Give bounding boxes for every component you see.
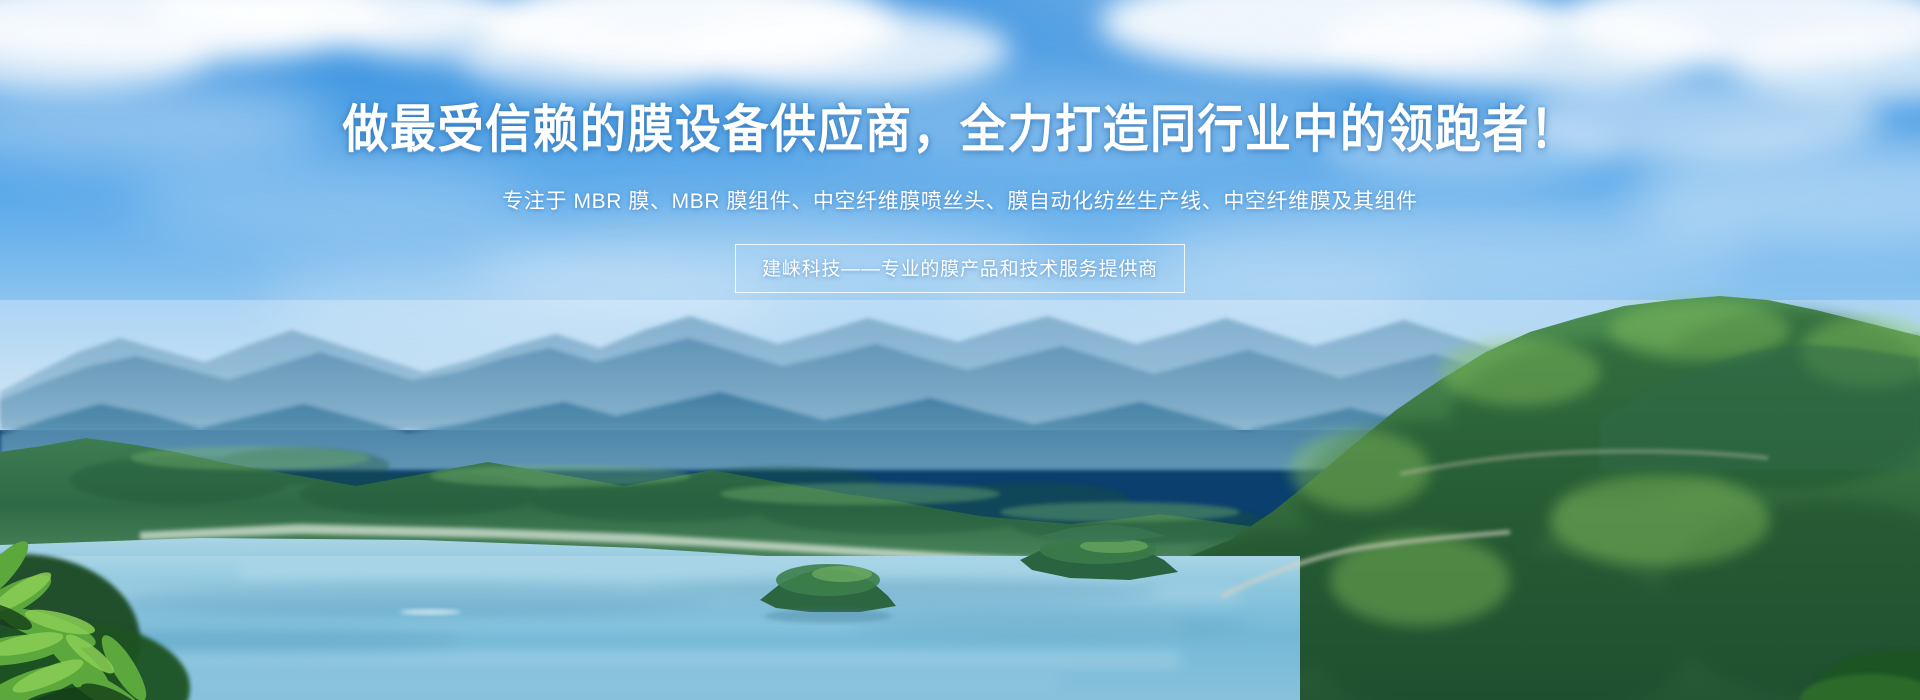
banner-tagline-wrapper: 建崃科技——专业的膜产品和技术服务提供商 bbox=[0, 244, 1920, 293]
hero-banner: 做最受信赖的膜设备供应商，全力打造同行业中的领跑者！ 专注于 MBR 膜、MBR… bbox=[0, 0, 1920, 700]
island-left-highlight bbox=[812, 566, 872, 582]
banner-tagline-box: 建崃科技——专业的膜产品和技术服务提供商 bbox=[735, 244, 1185, 293]
island-left-reflection bbox=[764, 609, 892, 623]
banner-headline: 做最受信赖的膜设备供应商，全力打造同行业中的领跑者！ bbox=[0, 102, 1920, 156]
banner-subheadline: 专注于 MBR 膜、MBR 膜组件、中空纤维膜喷丝头、膜自动化纺丝生产线、中空纤… bbox=[0, 185, 1920, 215]
boat-wake bbox=[400, 609, 460, 615]
